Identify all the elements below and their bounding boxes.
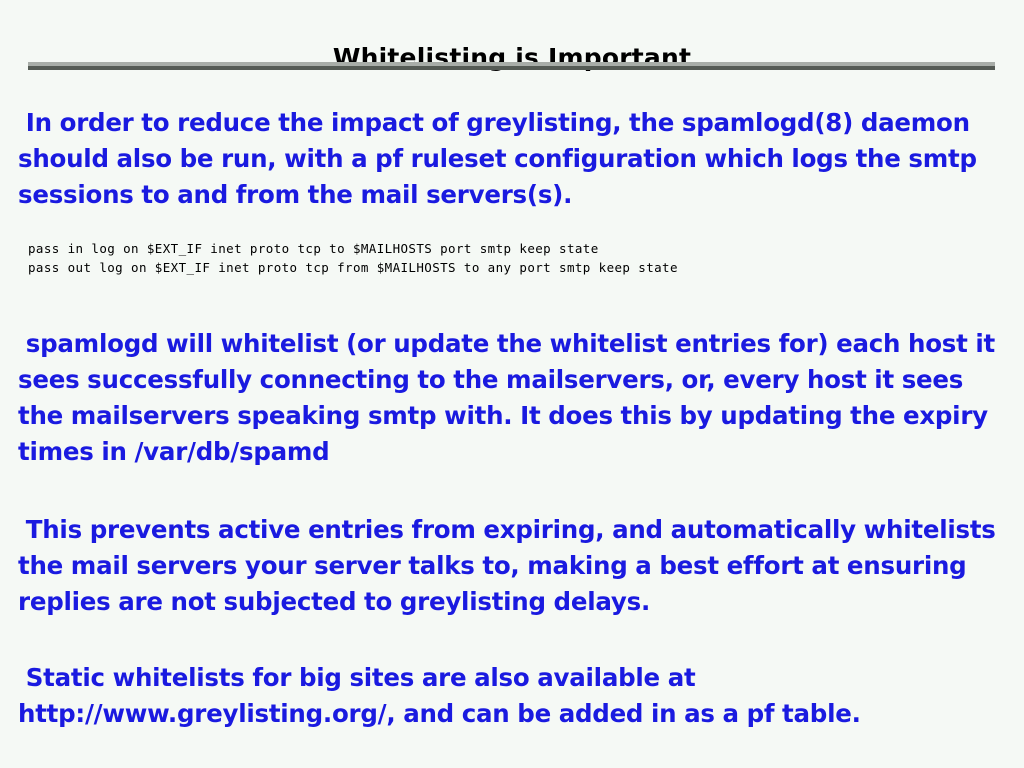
paragraph-static-whitelists: Static whitelists for big sites are also… [18, 660, 1006, 732]
pf-ruleset-code-block: pass in log on $EXT_IF inet proto tcp to… [28, 239, 678, 277]
code-line-pass-in: pass in log on $EXT_IF inet proto tcp to… [28, 239, 678, 258]
code-line-pass-out: pass out log on $EXT_IF inet proto tcp f… [28, 258, 678, 277]
title-divider [28, 62, 995, 70]
slide-container: Whitelisting is Important In order to re… [0, 0, 1024, 768]
divider-shadow [28, 66, 995, 70]
paragraph-spamlogd-whitelist: spamlogd will whitelist (or update the w… [18, 326, 1006, 470]
paragraph-greylisting-impact: In order to reduce the impact of greylis… [18, 105, 1006, 213]
paragraph-prevents-expiring: This prevents active entries from expiri… [18, 512, 1006, 620]
